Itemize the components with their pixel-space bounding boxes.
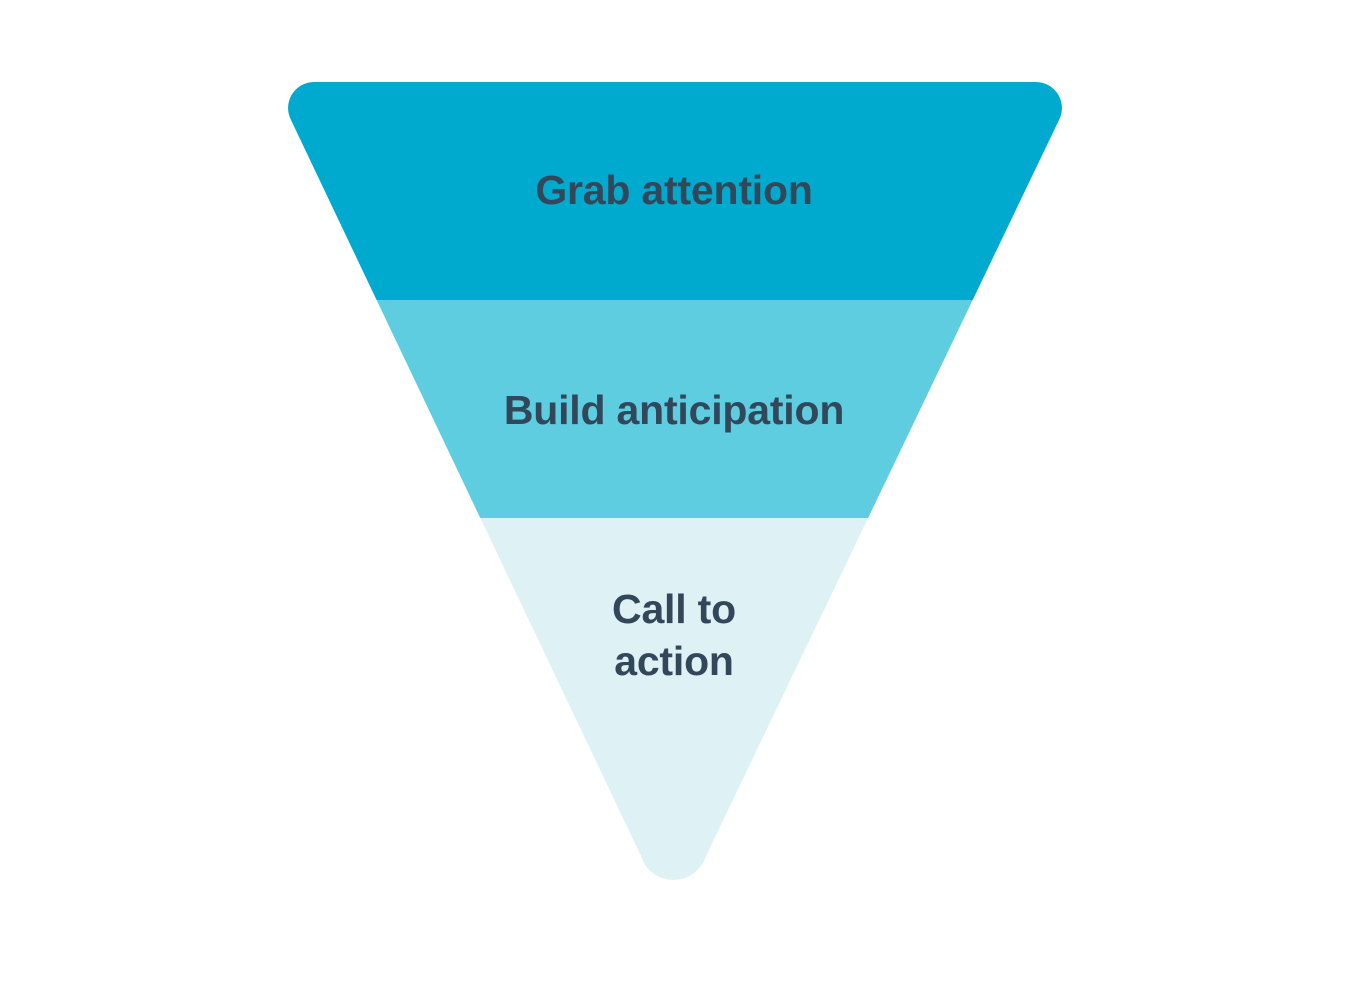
- funnel-diagram-canvas: Grab attention Build anticipation Call t…: [0, 0, 1350, 996]
- funnel-shape-svg: [0, 0, 1350, 996]
- funnel-band-build-anticipation[interactable]: [270, 300, 1080, 518]
- funnel-bands-group: [270, 70, 1080, 908]
- funnel-band-grab-attention[interactable]: [270, 70, 1080, 300]
- funnel-band-call-to-action[interactable]: [270, 518, 1080, 908]
